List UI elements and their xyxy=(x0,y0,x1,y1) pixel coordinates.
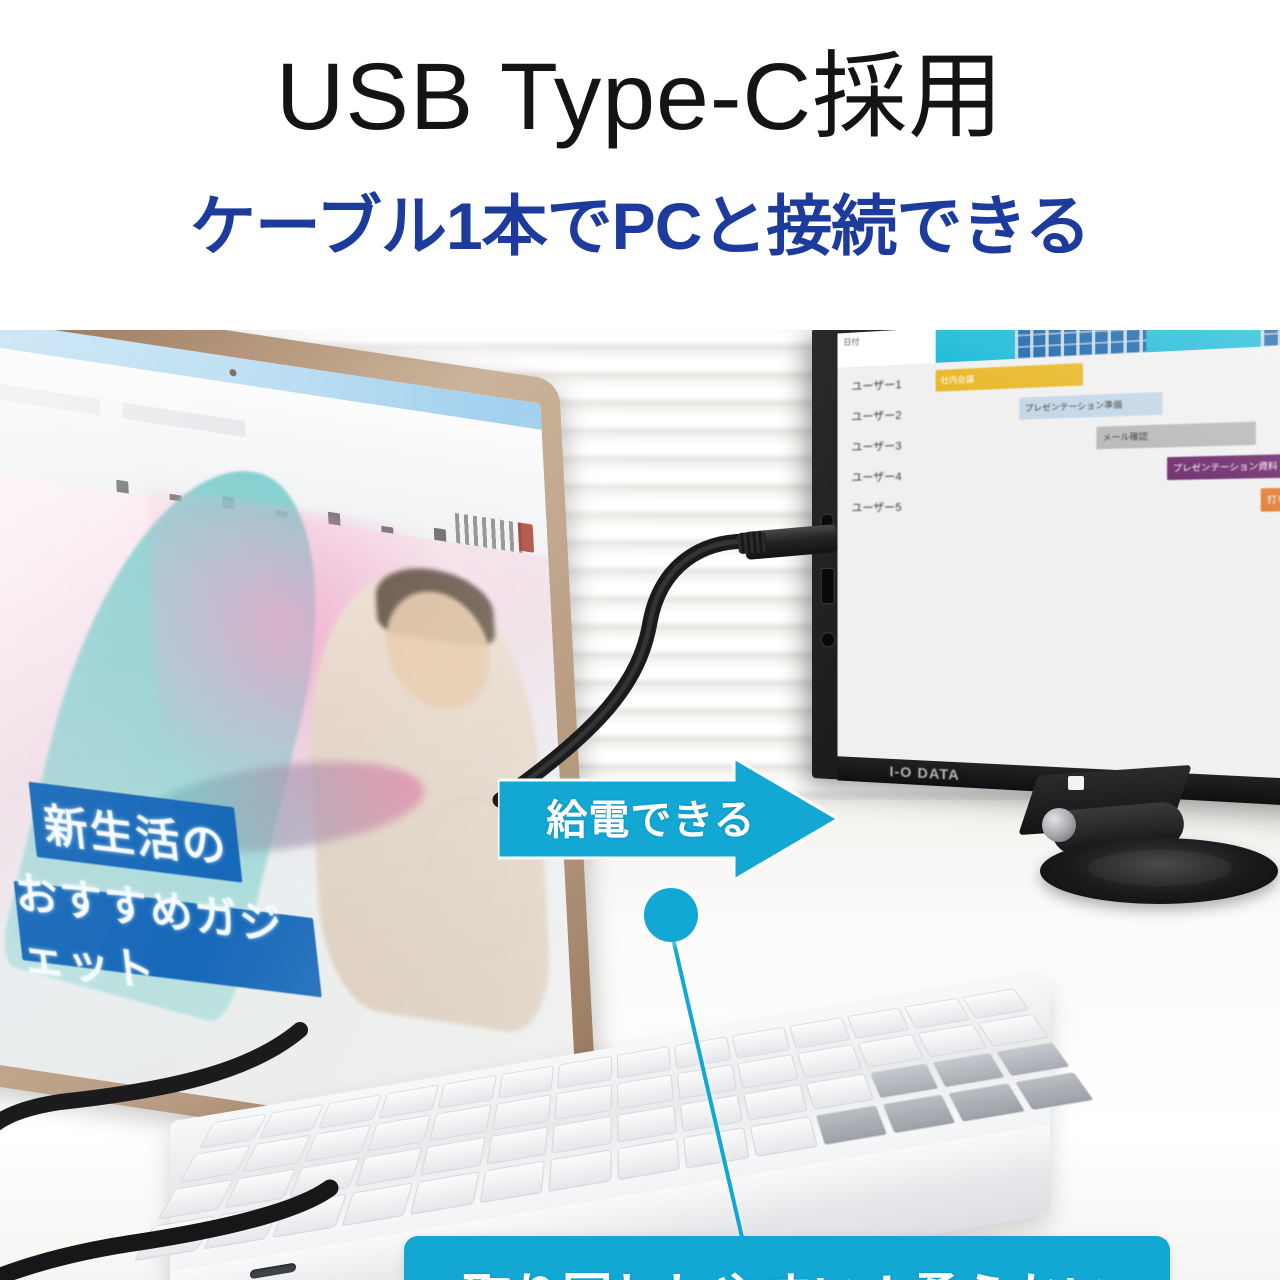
page-subtitle: ケーブル1本でPCと接続できる xyxy=(0,190,1280,263)
gantt-header-blue-1 xyxy=(1015,330,1147,359)
power-delivery-arrow-label: 給電できる xyxy=(536,786,766,846)
header-text-block: USB Type-C採用 ケーブル1本でPCと接続できる xyxy=(0,0,1280,330)
usb-c-plug-strain-relief xyxy=(737,531,767,554)
gantt-row-label: ユーザー4 xyxy=(851,468,901,485)
gantt-task-bar: 社内会議 xyxy=(935,363,1082,392)
gantt-task-bar: プレゼンテーション資料 xyxy=(1167,453,1280,481)
product-feature-image: USB Type-C採用 ケーブル1本でPCと接続できる xyxy=(0,0,1280,1280)
gantt-task-bar: メール確認 xyxy=(1097,422,1257,450)
laptop-webpage: 新生活の おすすめガジェット xyxy=(0,465,579,1153)
page-title: USB Type-C採用 xyxy=(0,48,1280,148)
gantt-header-cyan-1 xyxy=(935,330,1014,363)
monitor-headphone-jack xyxy=(821,632,836,647)
callout-line-1: 取り回ししやすい！柔らかい xyxy=(462,1267,1112,1280)
gantt-row-label: ユーザー3 xyxy=(851,437,901,455)
gantt-date-label: 日付 xyxy=(843,336,859,348)
laptop-lid: 新生活の おすすめガジェット xyxy=(0,330,600,1178)
product-photo: 日付 ユーザー1社内会議ユーザー2プレゼンテーション準備ユーザー3メール確認ユー… xyxy=(0,330,1280,1280)
gantt-row-label: ユーザー5 xyxy=(851,499,901,516)
gantt-header-cyan-2 xyxy=(1147,330,1261,352)
monitor-stand-cutout xyxy=(1068,776,1084,790)
laptop-toolbar-accent-icon xyxy=(518,522,534,553)
laptop-banner-line2: おすすめガジェット xyxy=(14,881,322,998)
external-monitor: 日付 ユーザー1社内会議ユーザー2プレゼンテーション準備ユーザー3メール確認ユー… xyxy=(812,330,1280,830)
gantt-task-bar: 打ち合わせ xyxy=(1261,486,1280,511)
monitor-bezel: 日付 ユーザー1社内会議ユーザー2プレゼンテーション準備ユーザー3メール確認ユー… xyxy=(812,330,1280,807)
monitor-stand-knob xyxy=(1042,808,1076,842)
gantt-chart: 日付 ユーザー1社内会議ユーザー2プレゼンテーション準備ユーザー3メール確認ユー… xyxy=(837,330,1280,780)
gantt-row-label: ユーザー1 xyxy=(851,376,901,395)
power-delivery-arrow: 給電できる xyxy=(498,758,838,880)
gantt-row-label: ユーザー2 xyxy=(851,406,901,424)
monitor-hdmi-port xyxy=(821,568,835,604)
cable-point-marker-icon xyxy=(644,888,698,942)
monitor-screen: 日付 ユーザー1社内会議ユーザー2プレゼンテーション準備ユーザー3メール確認ユー… xyxy=(837,330,1280,780)
laptop-screen: 新生活の おすすめガジェット xyxy=(0,330,579,1152)
gantt-task-bar: プレゼンテーション準備 xyxy=(1019,392,1162,420)
monitor-stand-base-inner xyxy=(1088,850,1232,886)
gantt-header-blue-2 xyxy=(1261,330,1280,347)
cable-callout-box: 取り回ししやすい！柔らかい USB Type-Cケーブル標準添付 xyxy=(404,1236,1170,1280)
